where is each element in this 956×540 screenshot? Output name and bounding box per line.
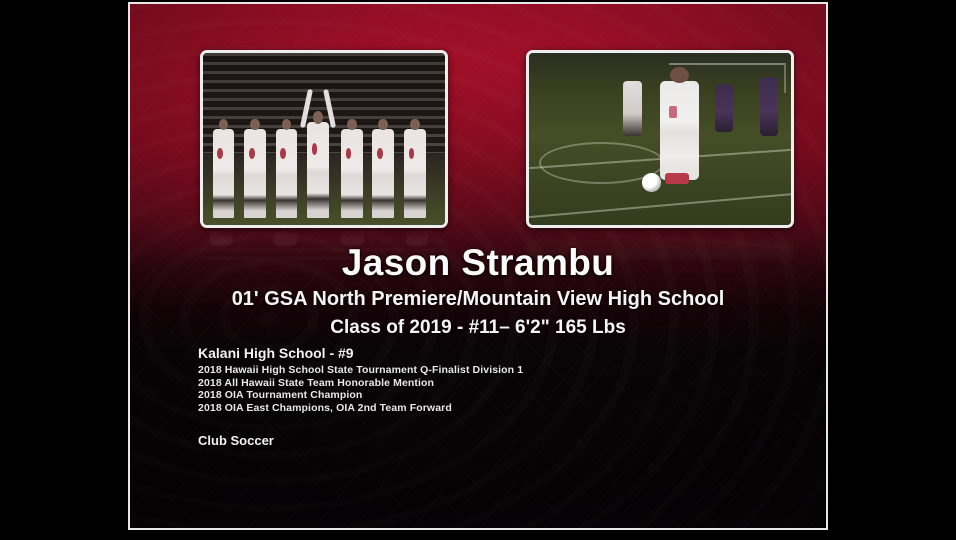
club-and-school-subtitle: 01' GSA North Premiere/Mountain View Hig… (130, 288, 826, 311)
class-number-height-weight: Class of 2019 - #11– 6'2" 165 Lbs (130, 317, 826, 339)
player-name: Jason Strambu (130, 242, 826, 284)
video-frame-stage: Jason Strambu 01' GSA North Premiere/Mou… (0, 0, 956, 540)
achievement-item: 2018 OIA Tournament Champion (198, 389, 758, 402)
high-school-line: Kalani High School - #9 (198, 345, 758, 361)
achievement-item: 2018 Hawaii High School State Tournament… (198, 364, 758, 377)
achievement-item: 2018 OIA East Champions, OIA 2nd Team Fo… (198, 402, 758, 415)
details-column: Kalani High School - #9 2018 Hawaii High… (198, 345, 758, 448)
content-frame: Jason Strambu 01' GSA North Premiere/Mou… (128, 2, 828, 530)
profile-text-block: Jason Strambu 01' GSA North Premiere/Mou… (130, 4, 826, 528)
achievement-item: 2018 All Hawaii State Team Honorable Men… (198, 377, 758, 390)
club-soccer-heading: Club Soccer (198, 433, 758, 448)
